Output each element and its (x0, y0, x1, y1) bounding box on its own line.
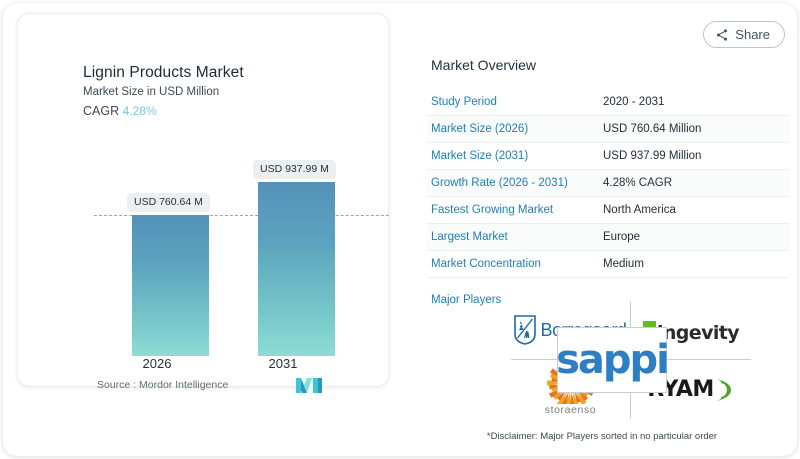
storaenso-logo-text: storaenso (545, 404, 597, 416)
share-icon (715, 28, 729, 42)
cagr-row: CAGR 4.28% (83, 104, 157, 118)
bar-value-label-2026: USD 760.64 M (127, 193, 210, 212)
row-value: USD 937.99 Million (603, 150, 701, 162)
source-text: Source : Mordor Intelligence (97, 379, 228, 391)
row-value: Europe (603, 231, 640, 243)
bar-value-label-2031: USD 937.99 M (253, 160, 336, 179)
sappi-logo-text: sappi (556, 340, 668, 380)
row-value: North America (603, 204, 676, 216)
row-key: Market Concentration (431, 258, 603, 270)
share-button[interactable]: Share (703, 21, 785, 48)
overview-title: Market Overview (431, 57, 536, 73)
bar-2026[interactable] (132, 215, 209, 356)
row-value: USD 760.64 Million (603, 123, 701, 135)
cagr-value: 4.28% (123, 104, 157, 118)
table-row: Market Size (2031) USD 937.99 Million (427, 143, 789, 170)
row-value: 2020 - 2031 (603, 96, 664, 108)
row-key: Study Period (431, 96, 603, 108)
overview-panel: Share Market Overview Study Period 2020 … (413, 11, 791, 456)
chart-card: Lignin Products Market Market Size in US… (17, 13, 389, 387)
borregaard-shield-icon (514, 315, 536, 345)
cagr-label: CAGR (83, 104, 119, 118)
row-key: Largest Market (431, 231, 603, 243)
table-row: Study Period 2020 - 2031 (427, 89, 789, 116)
ingevity-logo-text: ingevity (657, 324, 739, 343)
row-value: 4.28% CAGR (603, 177, 672, 189)
chart-title: Lignin Products Market (83, 64, 244, 82)
overview-table: Study Period 2020 - 2031 Market Size (20… (427, 89, 789, 278)
table-row: Market Size (2026) USD 760.64 Million (427, 116, 789, 143)
major-players-logo-grid: Borregaard ingevity (511, 301, 751, 419)
table-row: Market Concentration Medium (427, 251, 789, 278)
share-label: Share (735, 27, 770, 42)
row-key: Growth Rate (2026 - 2031) (431, 177, 603, 189)
page-card: Lignin Products Market Market Size in US… (3, 3, 797, 456)
table-row: Growth Rate (2026 - 2031) 4.28% CAGR (427, 170, 789, 197)
bar-2031[interactable] (258, 182, 335, 356)
x-axis-tick-2031: 2031 (243, 356, 323, 371)
ryam-swoosh-icon (715, 377, 735, 403)
bar-chart-plot: USD 760.64 M USD 937.99 M (32, 124, 404, 356)
mordor-intelligence-logo (296, 376, 322, 393)
players-disclaimer: *Disclaimer: Major Players sorted in no … (413, 431, 791, 442)
table-row: Fastest Growing Market North America (427, 197, 789, 224)
table-row: Largest Market Europe (427, 224, 789, 251)
major-players-label: Major Players (431, 294, 501, 306)
row-key: Market Size (2026) (431, 123, 603, 135)
row-key: Fastest Growing Market (431, 204, 603, 216)
sappi-logo-cell: sappi (557, 327, 667, 393)
row-key: Market Size (2031) (431, 150, 603, 162)
chart-subtitle: Market Size in USD Million (83, 86, 219, 98)
row-value: Medium (603, 258, 644, 270)
x-axis-tick-2026: 2026 (117, 356, 197, 371)
